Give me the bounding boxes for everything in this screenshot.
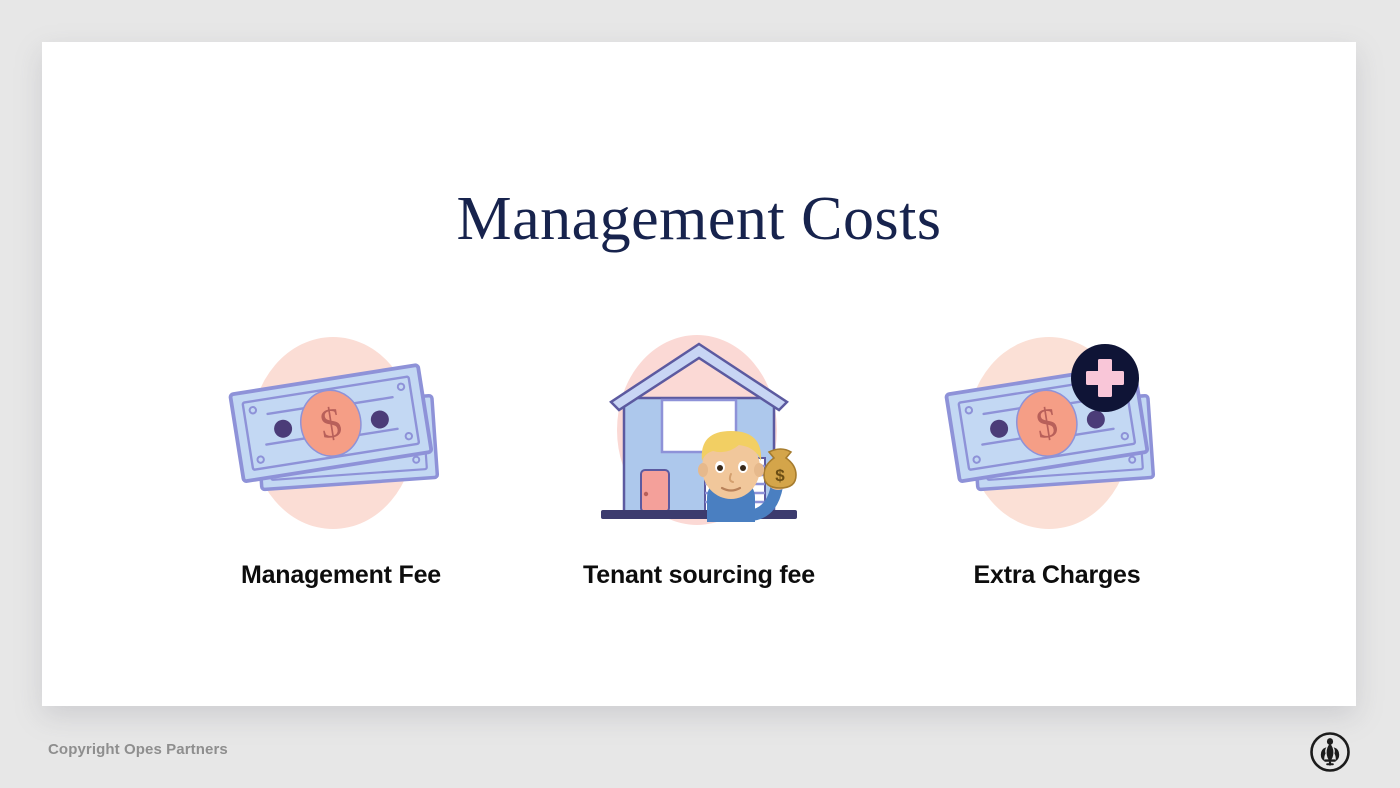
illustration-house-with-person: $ — [579, 330, 819, 545]
columns-container: $ Management Fee — [42, 330, 1356, 590]
column-tenant-sourcing-fee: $ — [520, 330, 878, 590]
footer-copyright-text: Copyright Opes Partners — [48, 741, 228, 758]
column-label-management-fee: Management Fee — [241, 561, 441, 590]
plus-badge — [1071, 344, 1139, 412]
fleur-de-lis-logo-icon — [1308, 730, 1352, 774]
column-extra-charges: $ Extra Charges — [878, 330, 1236, 590]
money-notes-plus-icon: $ — [937, 330, 1177, 545]
opes-partners-logo — [1308, 730, 1352, 774]
illustration-money-notes-plus: $ — [937, 330, 1177, 545]
illustration-money-notes: $ — [221, 330, 461, 545]
column-label-tenant-sourcing-fee: Tenant sourcing fee — [583, 561, 815, 590]
svg-text:$: $ — [775, 466, 785, 485]
column-label-extra-charges: Extra Charges — [974, 561, 1141, 590]
money-notes-icon: $ — [221, 330, 461, 545]
person-with-money-bag: $ — [698, 431, 796, 522]
presentation-slide: Management Costs — [42, 42, 1356, 706]
page-title: Management Costs — [42, 183, 1356, 255]
column-management-fee: $ Management Fee — [162, 330, 520, 590]
house-with-person-icon: $ — [579, 330, 819, 545]
